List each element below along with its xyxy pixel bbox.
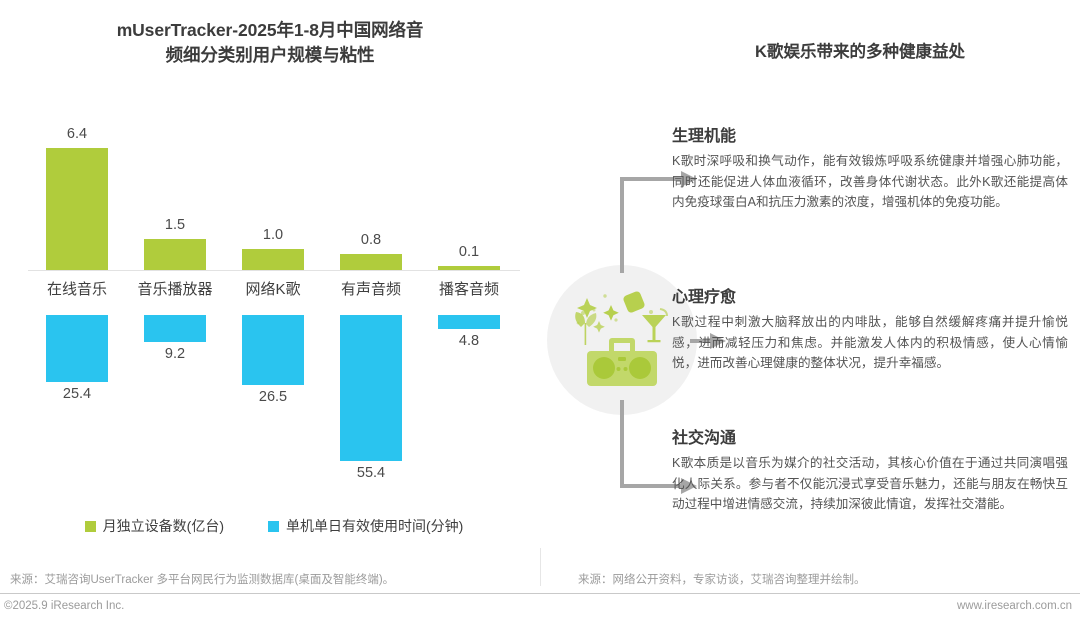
chart-title: mUserTracker-2025年1-8月中国网络音 频细分类别用户规模与粘性: [40, 18, 500, 68]
green-bar[interactable]: [438, 266, 500, 270]
blue-bar[interactable]: [144, 315, 206, 342]
green-bar-value-label: 1.5: [126, 217, 224, 233]
chart-column: 6.4 在线音乐 25.4: [28, 88, 126, 508]
benefit-heading: 心理疗愈: [672, 283, 1068, 307]
legend-item-green[interactable]: 月独立设备数(亿台): [85, 516, 224, 536]
blue-bar[interactable]: [46, 315, 108, 382]
legend-label: 月独立设备数(亿台): [103, 516, 224, 536]
green-bar-value-label: 6.4: [28, 126, 126, 142]
legend-label: 单机单日有效使用时间(分钟): [286, 516, 463, 536]
chart-column: 1.5 音乐播放器 9.2: [126, 88, 224, 508]
blue-bar-zone: 26.5: [224, 315, 322, 508]
blue-bar-zone: 55.4: [322, 315, 420, 508]
chart-plot-area: 6.4 在线音乐 25.4 1.5 音乐播放器 9.2 1.0: [28, 88, 520, 508]
copyright-text: ©2025.9 iResearch Inc.: [4, 600, 124, 612]
green-bar-value-label: 0.1: [420, 244, 518, 260]
category-label: 音乐播放器: [126, 278, 224, 299]
blue-bar-zone: 9.2: [126, 315, 224, 508]
benefit-heading: 社交沟通: [672, 424, 1068, 448]
chart-column: 0.8 有声音频 55.4: [322, 88, 420, 508]
green-bar-zone: 6.4: [28, 88, 126, 270]
blue-bar-zone: 25.4: [28, 315, 126, 508]
green-bar-value-label: 1.0: [224, 227, 322, 243]
chart-title-line-2: 频细分类别用户规模与粘性: [40, 43, 500, 68]
benefit-heading: 生理机能: [672, 122, 1068, 146]
green-bar[interactable]: [46, 148, 108, 270]
category-label: 有声音频: [322, 278, 420, 299]
chart-panel: mUserTracker-2025年1-8月中国网络音 频细分类别用户规模与粘性…: [0, 0, 540, 560]
benefits-panel: K歌娱乐带来的多种健康益处 生理机能 K歌时深呼吸和换气动作，能有效锻炼呼吸系统…: [660, 0, 1080, 560]
blue-bar[interactable]: [340, 315, 402, 461]
benefit-body: K歌过程中刺激大脑释放出的内啡肽，能够自然缓解疼痛并提升愉悦感，进而减轻压力和焦…: [672, 312, 1068, 374]
green-bar-zone: 0.8: [322, 88, 420, 270]
legend-swatch-icon: [85, 521, 96, 532]
blue-bar-zone: 4.8: [420, 315, 518, 508]
green-bar[interactable]: [144, 239, 206, 270]
green-bar[interactable]: [242, 249, 304, 270]
benefit-block-psychology: 心理疗愈 K歌过程中刺激大脑释放出的内啡肽，能够自然缓解疼痛并提升愉悦感，进而减…: [672, 283, 1068, 374]
blue-bar[interactable]: [242, 315, 304, 385]
category-label: 播客音频: [420, 278, 518, 299]
blue-bar-value-label: 55.4: [322, 465, 420, 481]
benefits-title: K歌娱乐带来的多种健康益处: [660, 38, 1060, 62]
benefit-block-physiology: 生理机能 K歌时深呼吸和换气动作，能有效锻炼呼吸系统健康并增强心肺功能，同时还能…: [672, 122, 1068, 213]
green-bar[interactable]: [340, 254, 402, 270]
benefit-body: K歌本质是以音乐为媒介的社交活动，其核心价值在于通过共同演唱强化人际关系。参与者…: [672, 453, 1068, 515]
category-label: 在线音乐: [28, 278, 126, 299]
category-label: 网络K歌: [224, 278, 322, 299]
chart-column: 0.1 播客音频 4.8: [420, 88, 518, 508]
green-bar-value-label: 0.8: [322, 232, 420, 248]
blue-bar-value-label: 25.4: [28, 386, 126, 402]
legend-swatch-icon: [268, 521, 279, 532]
footer-vertical-divider: [540, 548, 541, 586]
benefit-block-social: 社交沟通 K歌本质是以音乐为媒介的社交活动，其核心价值在于通过共同演唱强化人际关…: [672, 424, 1068, 515]
footer-divider: [0, 593, 1080, 594]
green-bar-zone: 1.0: [224, 88, 322, 270]
blue-bar-value-label: 26.5: [224, 389, 322, 405]
chart-legend: 月独立设备数(亿台) 单机单日有效使用时间(分钟): [28, 516, 520, 536]
website-url[interactable]: www.iresearch.com.cn: [957, 600, 1072, 612]
benefit-body: K歌时深呼吸和换气动作，能有效锻炼呼吸系统健康并增强心肺功能，同时还能促进人体血…: [672, 151, 1068, 213]
source-note-right: 来源：网络公开资料，专家访谈，艾瑞咨询整理并绘制。: [578, 571, 866, 587]
blue-bar-value-label: 4.8: [420, 333, 518, 349]
source-note-left: 来源：艾瑞咨询UserTracker 多平台网民行为监测数据库(桌面及智能终端)…: [10, 571, 394, 587]
legend-item-blue[interactable]: 单机单日有效使用时间(分钟): [268, 516, 463, 536]
green-bar-zone: 0.1: [420, 88, 518, 270]
blue-bar-value-label: 9.2: [126, 346, 224, 362]
green-bar-zone: 1.5: [126, 88, 224, 270]
chart-column: 1.0 网络K歌 26.5: [224, 88, 322, 508]
blue-bar[interactable]: [438, 315, 500, 329]
chart-title-line-1: mUserTracker-2025年1-8月中国网络音: [40, 18, 500, 43]
